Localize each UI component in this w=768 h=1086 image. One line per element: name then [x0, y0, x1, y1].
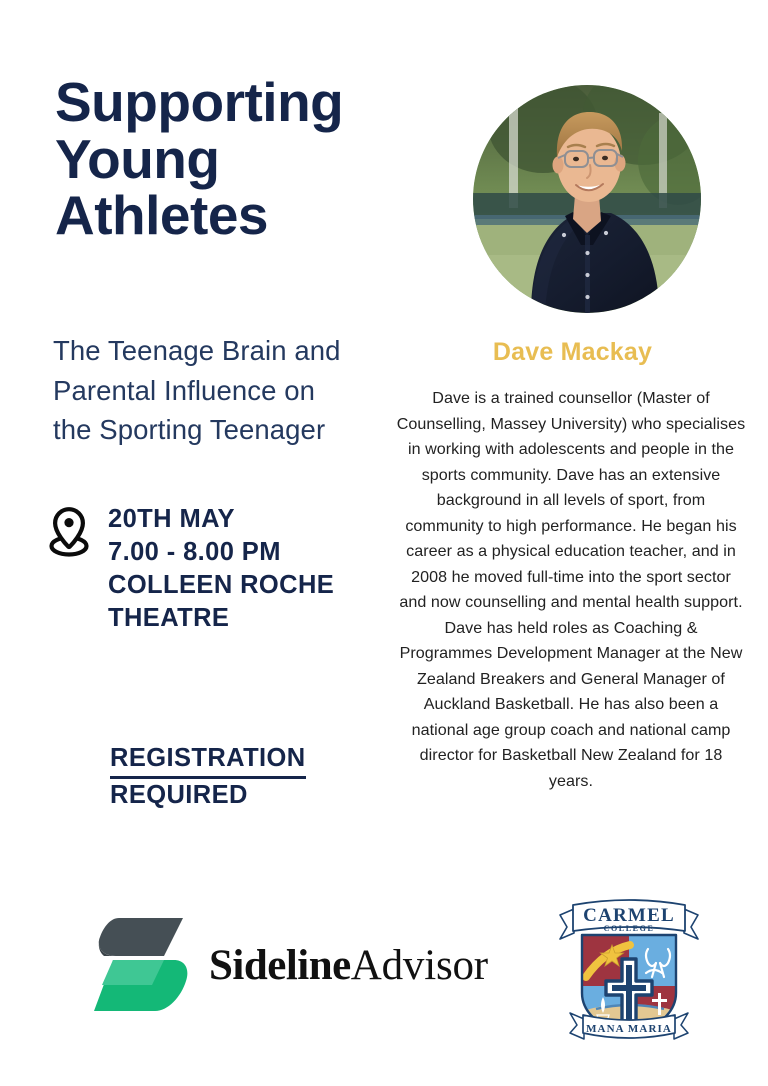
carmel-college-crest-icon: CARMEL COLLEGE: [556, 893, 702, 1045]
wordmark-sideline: Sideline: [209, 942, 351, 989]
event-venue-line-1: COLLEEN ROCHE: [108, 569, 334, 602]
registration-line-2: REQUIRED: [110, 779, 306, 812]
registration-underlined-text: REGISTRATION: [110, 742, 306, 779]
location-pin-icon: [47, 506, 91, 558]
subtitle-line-1: The Teenage Brain and: [53, 331, 408, 371]
speaker-name: Dave Mackay: [400, 338, 745, 367]
page-subtitle: The Teenage Brain and Parental Influence…: [53, 331, 408, 450]
event-text-block: 20TH MAY 7.00 - 8.00 PM COLLEEN ROCHE TH…: [108, 503, 334, 636]
registration-notice: REGISTRATION REQUIRED: [110, 742, 306, 812]
speaker-bio: Dave is a trained counsellor (Master of …: [396, 386, 746, 794]
poster-canvas: Supporting Young Athletes The Teenage Br…: [0, 0, 768, 1086]
event-details: 20TH MAY 7.00 - 8.00 PM COLLEEN ROCHE TH…: [47, 503, 334, 636]
event-venue-line-2: THEATRE: [108, 602, 334, 635]
subtitle-line-3: the Sporting Teenager: [53, 410, 408, 450]
page-title: Supporting Young Athletes: [55, 74, 435, 244]
speaker-photo: [473, 85, 701, 313]
sideline-advisor-logo: SidelineAdvisor: [86, 915, 488, 1015]
event-time: 7.00 - 8.00 PM: [108, 536, 334, 569]
crest-banner-top-text: CARMEL: [583, 905, 675, 926]
event-date: 20TH MAY: [108, 503, 334, 536]
subtitle-line-2: Parental Influence on: [53, 371, 408, 411]
sideline-advisor-wordmark: SidelineAdvisor: [209, 944, 488, 987]
wordmark-advisor: Advisor: [351, 942, 488, 989]
headline-line-3: Athletes: [55, 187, 435, 244]
headline-line-2: Young: [55, 131, 435, 188]
crest-banner-bottom-text: MANA MARIA: [586, 1023, 672, 1035]
headline-line-1: Supporting: [55, 74, 435, 131]
crest-banner-sub-text: COLLEGE: [604, 924, 655, 933]
registration-line-1: REGISTRATION: [110, 742, 306, 779]
sideline-advisor-s-mark-icon: [86, 915, 191, 1015]
